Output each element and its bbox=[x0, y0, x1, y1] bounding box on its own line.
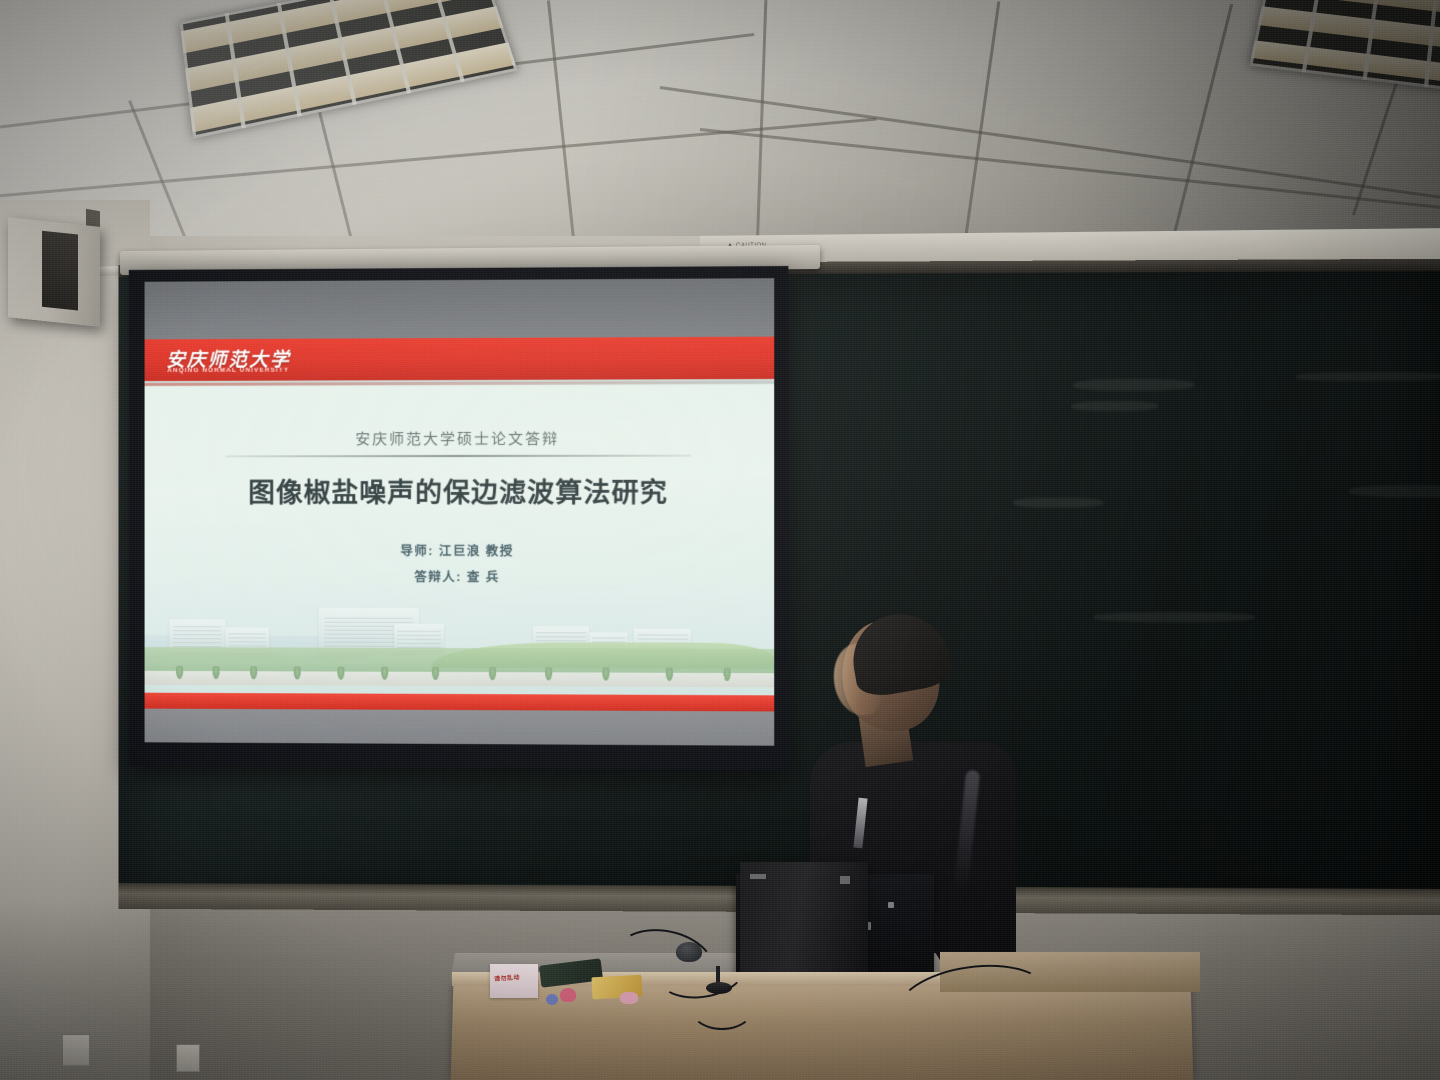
campus-tree bbox=[338, 667, 345, 680]
header-underline bbox=[145, 381, 775, 386]
projector-bleed-bottom bbox=[145, 707, 775, 746]
slide-header-band: 安庆师范大学 ANQING NORMAL UNIVERSITY bbox=[145, 337, 775, 381]
classroom-photo-scene: CAUTION 安庆师范大学 ANQING NORMAL UNIVERSITY bbox=[0, 0, 1440, 1080]
campus-tree bbox=[294, 666, 301, 679]
university-logo-english: ANQING NORMAL UNIVERSITY bbox=[167, 367, 289, 374]
slide-meta-block: 导师: 江巨浪 教授 答辩人: 查 兵 bbox=[145, 538, 775, 591]
wall-outlet[interactable] bbox=[62, 1034, 90, 1066]
ceiling-shading bbox=[0, 0, 1440, 250]
campus-tree bbox=[602, 668, 609, 681]
desk-trinket[interactable] bbox=[620, 992, 638, 1004]
note-card[interactable]: 请勿乱动 bbox=[490, 964, 538, 998]
power-cable bbox=[690, 986, 754, 1030]
slide-title: 图像椒盐噪声的保边滤波算法研究 bbox=[145, 471, 775, 510]
slide-footer-band bbox=[145, 693, 775, 712]
campus-tree bbox=[489, 667, 496, 680]
advisor-line: 导师: 江巨浪 教授 bbox=[145, 538, 775, 565]
campus-tree bbox=[545, 667, 552, 680]
tower-port bbox=[840, 876, 850, 884]
campus-tree bbox=[723, 668, 730, 681]
campus-tree bbox=[250, 666, 257, 679]
tower-port bbox=[750, 874, 766, 879]
slide-body: 安庆师范大学硕士论文答辩 图像椒盐噪声的保边滤波算法研究 导师: 江巨浪 教授 … bbox=[145, 387, 775, 591]
laptop-key-glint bbox=[888, 902, 894, 908]
projection-screen: 安庆师范大学 ANQING NORMAL UNIVERSITY 安庆师范大学硕士… bbox=[129, 266, 789, 770]
campus-tree bbox=[176, 666, 183, 679]
speaker-grille-icon bbox=[42, 231, 78, 311]
slide-divider-rule bbox=[225, 455, 691, 458]
wall-speaker bbox=[8, 217, 100, 327]
projector-bleed-top bbox=[145, 278, 775, 341]
note-card-text: 请勿乱动 bbox=[494, 972, 521, 983]
campus-tree bbox=[432, 667, 439, 680]
campus-tree bbox=[382, 667, 389, 680]
screen-canvas: 安庆师范大学 ANQING NORMAL UNIVERSITY 安庆师范大学硕士… bbox=[145, 278, 775, 746]
presentation-slide: 安庆师范大学 ANQING NORMAL UNIVERSITY 安庆师范大学硕士… bbox=[145, 337, 775, 712]
campus-tree bbox=[213, 666, 220, 679]
campus-panorama-photo bbox=[145, 584, 775, 696]
ceiling bbox=[0, 0, 1440, 250]
slide-subtitle: 安庆师范大学硕士论文答辩 bbox=[145, 427, 775, 449]
desk-trinket[interactable] bbox=[546, 994, 558, 1005]
desk-trinket[interactable] bbox=[560, 988, 576, 1002]
campus-road bbox=[145, 671, 775, 687]
campus-tree bbox=[666, 668, 673, 681]
wall-outlet[interactable] bbox=[176, 1044, 200, 1072]
